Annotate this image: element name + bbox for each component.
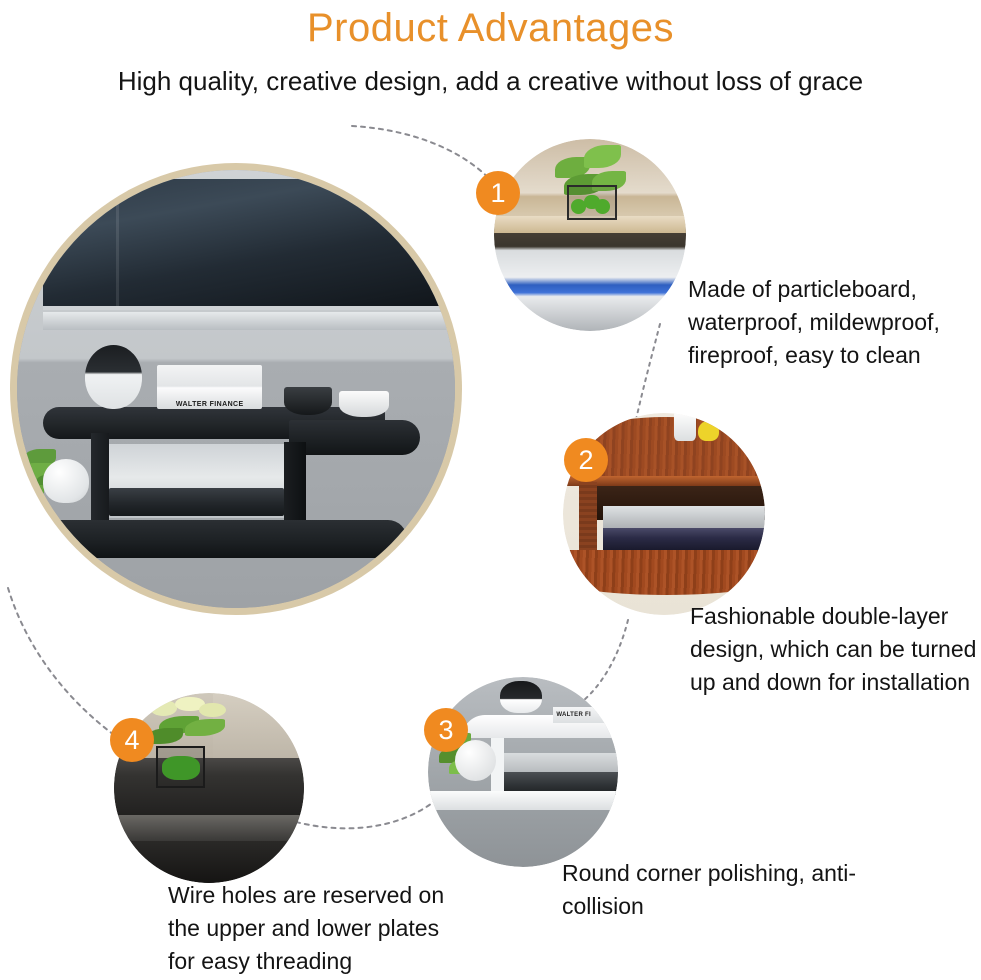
page-title: Product Advantages — [0, 6, 981, 51]
hero-shelf-lower — [26, 520, 407, 557]
hero-black-vase — [85, 345, 142, 409]
page-subtitle: High quality, creative design, add a cre… — [0, 66, 981, 97]
advantage-1-badge: 1 — [476, 171, 520, 215]
hero-divider-left — [91, 433, 109, 529]
connector-4-to-3 — [296, 800, 436, 828]
hero-shelf-upper-right — [289, 420, 420, 455]
detail-2-yellow-object — [698, 421, 718, 441]
advantage-2-caption: Fashionable double-layer design, which c… — [690, 600, 981, 699]
advantage-1-caption: Made of particleboard, waterproof, milde… — [688, 273, 978, 372]
hero-media-player — [109, 488, 284, 516]
hero-tv-base — [43, 312, 446, 330]
advantage-2-badge: 2 — [564, 438, 608, 482]
hero-dark-bowl — [284, 387, 332, 415]
detail-3-book-label: WALTER FI — [556, 712, 591, 718]
detail-2-cup — [674, 413, 696, 441]
hero-white-bowl — [339, 391, 389, 417]
advantage-3-badge: 3 — [424, 708, 468, 752]
connector-hero-to-4 — [8, 588, 124, 742]
advantage-4-caption: Wire holes are reserved on the upper and… — [168, 879, 468, 978]
hero-book-label: WALTER FINANCE — [176, 401, 244, 408]
advantage-4-badge: 4 — [110, 718, 154, 762]
hero-white-pot — [43, 459, 89, 503]
detail-3-book: WALTER FI — [553, 707, 618, 722]
advantage-1-photo — [494, 139, 686, 331]
advantage-3-caption: Round corner polishing, anti-collision — [562, 857, 862, 923]
advantage-3-photo: WALTER FI — [428, 677, 618, 867]
detail-3-vase — [500, 681, 542, 713]
hero-books: WALTER FINANCE — [157, 365, 262, 409]
infographic-page: Product Advantages High quality, creativ… — [0, 0, 981, 980]
hero-product-photo: WALTER FINANCE — [10, 163, 462, 615]
hero-tv — [43, 179, 446, 310]
